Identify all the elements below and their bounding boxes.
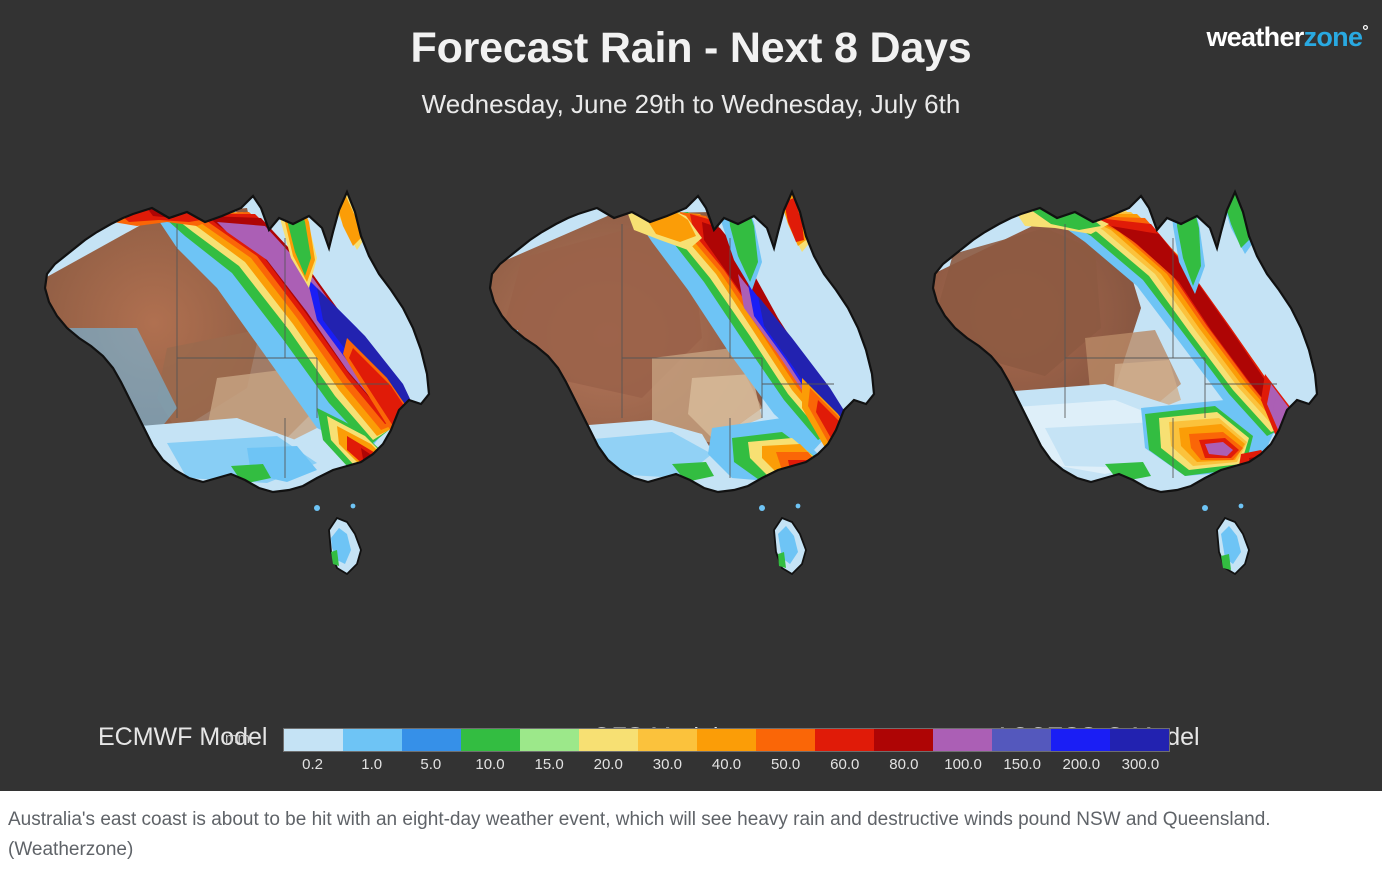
image-caption: Australia's east coast is about to be hi… (0, 791, 1382, 874)
colorbar-gradient (283, 728, 1170, 752)
colorbar-tick-1: 1.0 (361, 756, 382, 773)
colorbar-tick-13: 200.0 (1063, 756, 1101, 773)
colorbar-segment-13 (1051, 729, 1110, 751)
colorbar-tick-0: 0.2 (302, 756, 323, 773)
page-title: Forecast Rain - Next 8 Days (0, 26, 1382, 71)
colorbar-tick-3: 10.0 (475, 756, 504, 773)
infographic-root: Forecast Rain - Next 8 Days Wednesday, J… (0, 0, 1382, 874)
colorbar-segment-7 (697, 729, 756, 751)
colorbar-unit-label: mm (225, 730, 250, 747)
colorbar-segment-8 (756, 729, 815, 751)
colorbar-tick-7: 40.0 (712, 756, 741, 773)
map-ecmwf (17, 178, 467, 598)
colorbar-segment-2 (402, 729, 461, 751)
colorbar-segment-12 (992, 729, 1051, 751)
colorbar-segment-6 (638, 729, 697, 751)
colorbar-tick-12: 150.0 (1003, 756, 1041, 773)
map-access-g (905, 178, 1355, 598)
colorbar-tick-11: 100.0 (944, 756, 982, 773)
colorbar-tick-5: 20.0 (594, 756, 623, 773)
colorbar-segment-4 (520, 729, 579, 751)
model-maps-row: ECMWF Model GFS Model ACCESS-G Model (0, 178, 1382, 598)
colorbar-tick-10: 80.0 (889, 756, 918, 773)
forecast-panel: Forecast Rain - Next 8 Days Wednesday, J… (0, 0, 1382, 791)
colorbar-tick-9: 60.0 (830, 756, 859, 773)
logo-text-weather: weather (1206, 22, 1303, 52)
colorbar-tick-4: 15.0 (534, 756, 563, 773)
colorbar-tick-6: 30.0 (653, 756, 682, 773)
colorbar-segment-9 (815, 729, 874, 751)
page-subtitle: Wednesday, June 29th to Wednesday, July … (0, 90, 1382, 119)
colorbar-segment-14 (1110, 729, 1169, 751)
colorbar-segment-11 (933, 729, 992, 751)
colorbar-segment-10 (874, 729, 933, 751)
colorbar-tick-labels: 0.21.05.010.015.020.030.040.050.060.080.… (0, 756, 1382, 778)
colorbar-segment-0 (284, 729, 343, 751)
degree-icon: ° (1362, 23, 1368, 40)
logo-text-zone: zone (1304, 22, 1363, 52)
colorbar-segment-5 (579, 729, 638, 751)
colorbar-tick-14: 300.0 (1122, 756, 1160, 773)
colorbar-tick-8: 50.0 (771, 756, 800, 773)
weatherzone-logo: weatherzone° (1206, 22, 1368, 53)
colorbar-segment-1 (343, 729, 402, 751)
map-gfs (462, 178, 912, 598)
colorbar-segment-3 (461, 729, 520, 751)
rainfall-colorbar-legend: mm 0.21.05.010.015.020.030.040.050.060.0… (0, 728, 1382, 786)
colorbar-tick-2: 5.0 (420, 756, 441, 773)
